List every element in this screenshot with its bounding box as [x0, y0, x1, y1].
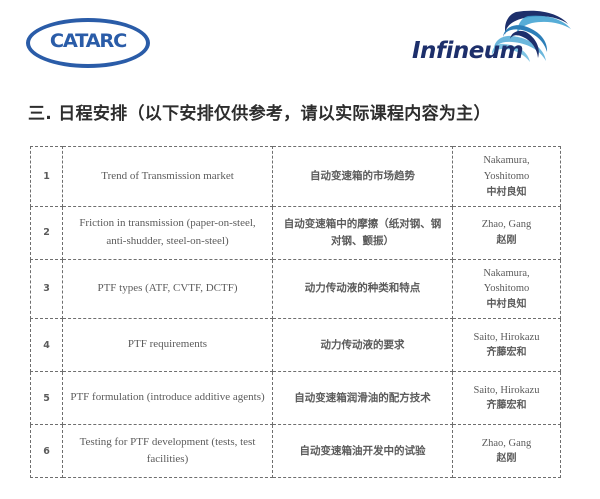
topic-cn: 动力传动液的种类和特点 — [273, 259, 453, 319]
speaker-cell: Zhao, Gang 赵刚 — [453, 425, 561, 478]
speaker-name-cn: 齐藤宏和 — [460, 398, 553, 413]
table-row: 4 PTF requirements 动力传动液的要求 Saito, Hirok… — [31, 319, 561, 372]
schedule-table-body: 1 Trend of Transmission market 自动变速箱的市场趋… — [31, 147, 561, 478]
catarc-logo: CATARC — [26, 18, 150, 68]
page-header: CATARC Infineum — [0, 0, 600, 88]
topic-en: PTF types (ATF, CVTF, DCTF) — [63, 259, 273, 319]
infineum-logo-text: Infineum — [412, 38, 523, 64]
table-row: 1 Trend of Transmission market 自动变速箱的市场趋… — [31, 147, 561, 207]
infineum-logo: Infineum — [408, 8, 578, 70]
speaker-name-cn: 齐藤宏和 — [460, 345, 553, 360]
schedule-table: 1 Trend of Transmission market 自动变速箱的市场趋… — [30, 146, 561, 478]
topic-en: Friction in transmission (paper-on-steel… — [63, 206, 273, 259]
speaker-cell: Nakamura, Yoshitomo 中村良知 — [453, 147, 561, 207]
speaker-cell: Saito, Hirokazu 齐藤宏和 — [453, 319, 561, 372]
topic-en: Testing for PTF development (tests, test… — [63, 425, 273, 478]
speaker-name-en: Saito, Hirokazu — [460, 383, 553, 399]
speaker-cell: Nakamura, Yoshitomo 中村良知 — [453, 259, 561, 319]
table-row: 5 PTF formulation (introduce additive ag… — [31, 372, 561, 425]
topic-cn: 自动变速箱的市场趋势 — [273, 147, 453, 207]
row-number: 6 — [31, 425, 63, 478]
table-row: 6 Testing for PTF development (tests, te… — [31, 425, 561, 478]
speaker-cell: Zhao, Gang 赵刚 — [453, 206, 561, 259]
row-number: 4 — [31, 319, 63, 372]
topic-en: PTF requirements — [63, 319, 273, 372]
row-number: 3 — [31, 259, 63, 319]
speaker-name-cn: 中村良知 — [460, 297, 553, 312]
table-row: 2 Friction in transmission (paper-on-ste… — [31, 206, 561, 259]
topic-en: PTF formulation (introduce additive agen… — [63, 372, 273, 425]
table-row: 3 PTF types (ATF, CVTF, DCTF) 动力传动液的种类和特… — [31, 259, 561, 319]
speaker-name-en: Saito, Hirokazu — [460, 330, 553, 346]
row-number: 1 — [31, 147, 63, 207]
catarc-logo-text: CATARC — [25, 30, 151, 52]
speaker-name-en: Nakamura, Yoshitomo — [460, 153, 553, 185]
topic-cn: 自动变速箱中的摩擦（纸对钢、钢对钢、颤振） — [273, 206, 453, 259]
page-title: 三. 日程安排（以下安排仅供参考，请以实际课程内容为主） — [28, 99, 491, 124]
speaker-name-cn: 赵刚 — [460, 451, 553, 466]
speaker-name-en: Zhao, Gang — [460, 436, 553, 452]
topic-cn: 动力传动液的要求 — [273, 319, 453, 372]
speaker-name-cn: 赵刚 — [460, 233, 553, 248]
row-number: 2 — [31, 206, 63, 259]
topic-en: Trend of Transmission market — [63, 147, 273, 207]
speaker-name-cn: 中村良知 — [460, 185, 553, 200]
speaker-name-en: Zhao, Gang — [460, 217, 553, 233]
topic-cn: 自动变速箱润滑油的配方技术 — [273, 372, 453, 425]
row-number: 5 — [31, 372, 63, 425]
speaker-name-en: Nakamura, Yoshitomo — [460, 266, 553, 298]
speaker-cell: Saito, Hirokazu 齐藤宏和 — [453, 372, 561, 425]
topic-cn: 自动变速箱油开发中的试验 — [273, 425, 453, 478]
